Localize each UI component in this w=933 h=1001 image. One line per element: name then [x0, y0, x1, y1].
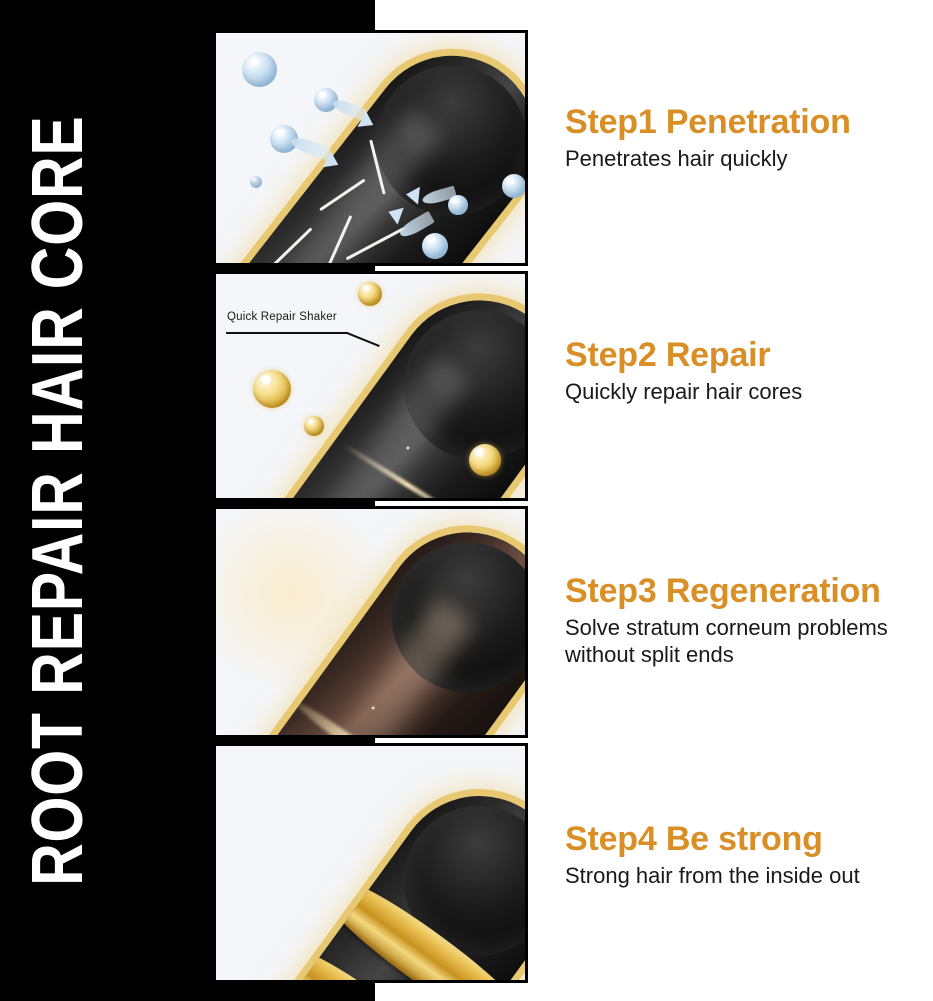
step-block-1: Step1 Penetration Penetrates hair quickl…	[565, 104, 851, 173]
step-description-3-line1: Solve stratum corneum problems	[565, 615, 888, 642]
gold-droplet	[469, 444, 501, 476]
hair-shaft-body	[216, 763, 525, 980]
banner-title-text: ROOT REPAIR HAIR CORE	[22, 0, 94, 1001]
step-block-2: Step2 Repair Quickly repair hair cores	[565, 337, 802, 406]
banner-title-glyphs: ROOT REPAIR HAIR CORE	[22, 115, 94, 886]
water-bubble	[250, 176, 262, 188]
water-bubble	[422, 233, 448, 259]
water-bubble	[242, 52, 277, 87]
illustration-panel-step3	[213, 506, 528, 738]
illustration-panel-column: Quick Repair Shaker	[213, 30, 528, 983]
step-description-1: Penetrates hair quickly	[565, 146, 851, 173]
step-description-3-line2: without split ends	[565, 642, 888, 669]
step-title-1: Step1 Penetration	[565, 104, 851, 141]
illustration-panel-step1	[213, 30, 528, 266]
panel4-stage	[216, 746, 525, 980]
callout-leader-line	[347, 332, 380, 347]
step-description-4: Strong hair from the inside out	[565, 863, 860, 890]
step-block-4: Step4 Be strong Strong hair from the ins…	[565, 821, 860, 890]
illustration-panel-step4	[213, 743, 528, 983]
gold-droplet	[358, 282, 382, 306]
gold-droplet	[304, 416, 324, 436]
step-title-4: Step4 Be strong	[565, 821, 860, 858]
panel2-stage: Quick Repair Shaker	[216, 274, 525, 498]
bubble-arrow-tail	[289, 135, 331, 161]
illustration-panel-step2: Quick Repair Shaker	[213, 271, 528, 501]
hair-shaft-graphic	[216, 763, 525, 980]
step-description-2: Quickly repair hair cores	[565, 379, 802, 406]
step-block-3: Step3 Regeneration Solve stratum corneum…	[565, 573, 888, 668]
water-bubble	[502, 174, 525, 198]
callout-label-quick-repair-shaker: Quick Repair Shaker	[227, 311, 337, 323]
step-title-2: Step2 Repair	[565, 337, 802, 374]
bubble-arrow-head	[405, 185, 420, 204]
callout-underline	[226, 332, 348, 334]
step-title-3: Step3 Regeneration	[565, 573, 888, 610]
panel3-stage	[216, 509, 525, 735]
panel1-stage	[216, 33, 525, 263]
gold-droplet	[253, 370, 291, 408]
